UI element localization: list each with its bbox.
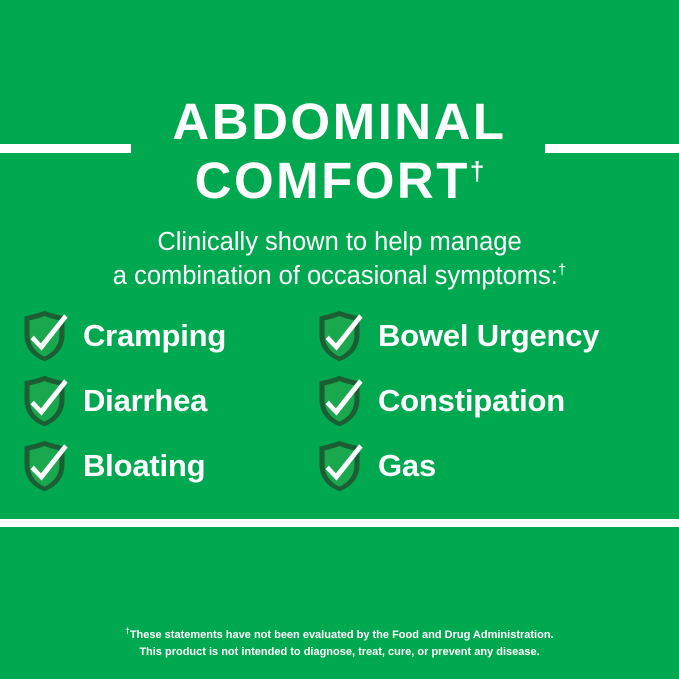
shield-check-icon xyxy=(20,440,69,492)
list-item-label: Constipation xyxy=(378,383,565,419)
list-item: Bowel Urgency xyxy=(315,303,670,368)
shield-check-icon xyxy=(315,310,364,362)
list-item: Constipation xyxy=(315,368,670,433)
list-item: Diarrhea xyxy=(20,368,315,433)
page-title: ABDOMINAL COMFORT† xyxy=(0,96,679,208)
list-item: Cramping xyxy=(20,303,315,368)
title-dagger-symbol: † xyxy=(470,156,484,186)
subtitle-dagger-symbol: † xyxy=(558,261,566,278)
title-line-abdominal: ABDOMINAL xyxy=(0,96,679,147)
list-item-label: Diarrhea xyxy=(83,383,207,419)
list-item-label: Bloating xyxy=(83,448,205,484)
title-line-comfort: COMFORT† xyxy=(0,154,679,208)
shield-check-icon xyxy=(315,440,364,492)
subtitle: Clinically shown to help manage a combin… xyxy=(0,226,679,293)
list-item-label: Bowel Urgency xyxy=(378,318,599,354)
list-item-label: Cramping xyxy=(83,318,226,354)
subtitle-line-2: a combination of occasional symptoms:† xyxy=(0,260,679,294)
symptom-list: Cramping Bowel Urgency Diarrhea Constipa… xyxy=(20,303,670,498)
list-item: Bloating xyxy=(20,433,315,498)
section-divider xyxy=(0,519,679,527)
shield-check-icon xyxy=(20,375,69,427)
shield-check-icon xyxy=(315,375,364,427)
title-comfort-text: COMFORT xyxy=(195,152,470,209)
footnote-disclaimer: †These statements have not been evaluate… xyxy=(0,627,679,661)
subtitle-line-2-text: a combination of occasional symptoms: xyxy=(113,262,558,290)
list-item-label: Gas xyxy=(378,448,436,484)
list-item: Gas xyxy=(315,433,670,498)
shield-check-icon xyxy=(20,310,69,362)
footnote-line-2: This product is not intended to diagnose… xyxy=(0,644,679,661)
footnote-line-1: †These statements have not been evaluate… xyxy=(0,627,679,644)
footnote-line-1-text: These statements have not been evaluated… xyxy=(130,629,554,641)
subtitle-line-1: Clinically shown to help manage xyxy=(0,226,679,260)
